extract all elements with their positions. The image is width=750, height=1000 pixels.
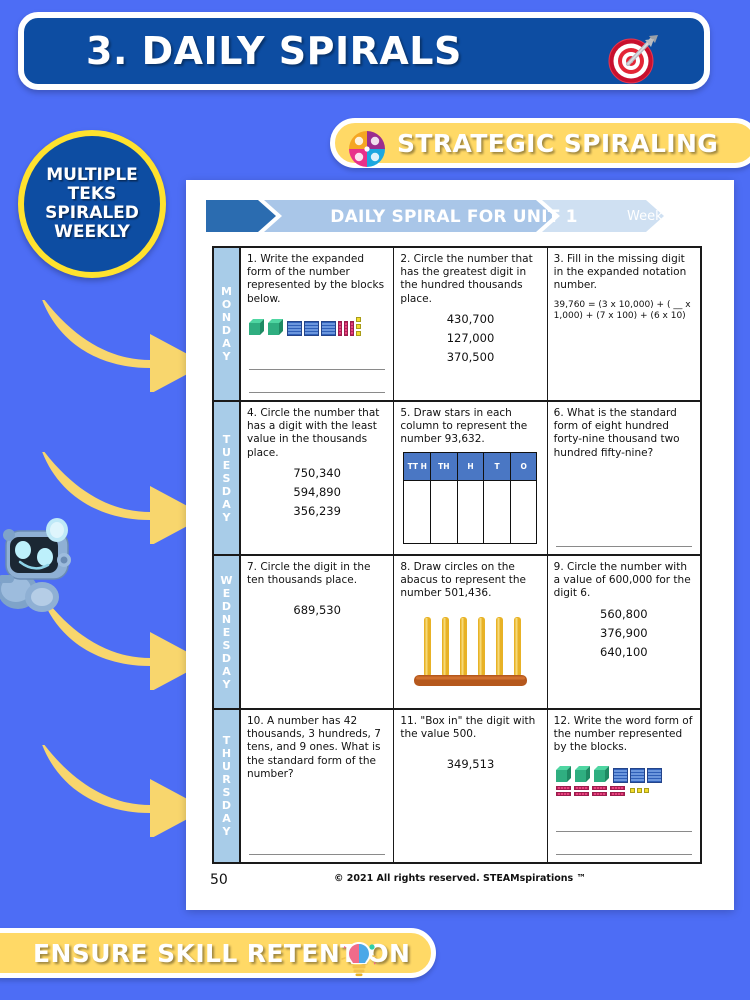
hundred-flat [647, 768, 662, 783]
pv-header: TH [431, 453, 457, 481]
one-unit [356, 317, 361, 322]
hundred-flat [613, 768, 628, 783]
ten-rod-pair [556, 786, 571, 796]
choice[interactable]: 560,800 [554, 605, 694, 624]
one-unit [644, 788, 649, 793]
question-text: 3. Fill in the missing digit in the expa… [554, 253, 694, 293]
day-letter: O [222, 298, 231, 311]
day-letter: A [222, 498, 231, 511]
day-letter: A [222, 665, 231, 678]
answer-choices[interactable]: 430,700 127,000 370,500 [400, 310, 540, 367]
choice[interactable]: 127,000 [400, 329, 540, 348]
answer-line[interactable] [249, 392, 385, 393]
base-ten-blocks-figure [247, 311, 387, 336]
question-cell-1[interactable]: 1. Write the expanded form of the number… [241, 248, 394, 400]
teks-line-1: MULTIPLE [46, 166, 138, 185]
question-text: 8. Draw circles on the abacus to represe… [400, 561, 540, 601]
day-letter: U [222, 446, 231, 459]
choice[interactable]: 370,500 [400, 348, 540, 367]
pv-header: H [458, 453, 484, 481]
day-letter: D [222, 799, 231, 812]
thousand-cube [268, 319, 285, 336]
page-title: 3. DAILY SPIRALS [86, 29, 462, 73]
expanded-notation[interactable]: 39,760 = (3 x 10,000) + ( __ x 1,000) + … [554, 300, 694, 323]
day-letter: N [222, 311, 231, 324]
day-letter: T [223, 734, 231, 747]
one-unit [356, 324, 361, 329]
ten-rod [610, 786, 625, 790]
lightbulb-brain-icon [339, 938, 379, 982]
ten-rod-pair [610, 786, 625, 796]
pv-header: TT H [404, 453, 430, 481]
question-value[interactable]: 689,530 [247, 603, 387, 617]
question-cell-2[interactable]: 2. Circle the number that has the greate… [394, 248, 547, 400]
blue-robot-mascot [0, 505, 88, 619]
one-units-group [356, 317, 361, 336]
pv-column-o[interactable]: O [511, 453, 537, 543]
day-letter: D [222, 600, 231, 613]
day-label-monday: MONDAY [214, 248, 241, 400]
choice[interactable]: 594,890 [247, 483, 387, 502]
day-letter: A [222, 337, 231, 350]
ten-rod [350, 321, 354, 336]
day-letter: D [222, 485, 231, 498]
answer-line[interactable] [556, 831, 692, 832]
question-cell-6[interactable]: 6. What is the standard form of eight hu… [548, 402, 700, 554]
question-text: 6. What is the standard form of eight hu… [554, 407, 694, 460]
question-cell-12[interactable]: 12. Write the word form of the number re… [548, 710, 700, 862]
answer-lines[interactable] [556, 524, 692, 547]
abacus-figure[interactable] [410, 609, 530, 693]
question-text: 10. A number has 42 thousands, 3 hundred… [247, 715, 387, 781]
question-text: 7. Circle the digit in the ten thousands… [247, 561, 387, 587]
day-letter: Y [223, 825, 231, 838]
day-label-thursday: THURSDAY [214, 710, 241, 862]
hundred-flat [304, 321, 319, 336]
strategic-spiraling-label: STRATEGIC SPIRALING [397, 129, 718, 158]
ten-rod [592, 792, 607, 796]
pv-cell[interactable] [484, 481, 510, 543]
ten-rod-pair [592, 786, 607, 796]
day-letter: M [221, 285, 232, 298]
answer-line[interactable] [556, 854, 692, 855]
banner-week: Week 1 [606, 207, 696, 227]
ten-rod [574, 786, 589, 790]
ensure-skill-retention-badge: ENSURE SKILL RETENTION [0, 928, 436, 978]
question-cell-7[interactable]: 7. Circle the digit in the ten thousands… [241, 556, 394, 708]
question-text: 5. Draw stars in each column to represen… [400, 407, 540, 447]
strategic-spiraling-badge: STRATEGIC SPIRALING [330, 118, 750, 168]
one-unit [637, 788, 642, 793]
question-cell-4[interactable]: 4. Circle the number that has a digit wi… [241, 402, 394, 554]
day-letter: T [223, 433, 231, 446]
choice[interactable]: 430,700 [400, 310, 540, 329]
day-letter: E [223, 626, 231, 639]
ten-rod [344, 321, 348, 336]
target-bullseye-icon [604, 30, 662, 92]
day-letter: W [220, 574, 232, 587]
answer-line[interactable] [249, 854, 385, 855]
question-text: 2. Circle the number that has the greate… [400, 253, 540, 306]
answer-choices[interactable]: 750,340 594,890 356,239 [247, 464, 387, 521]
answer-choices[interactable]: 560,800 376,900 640,100 [554, 605, 694, 662]
answer-line[interactable] [249, 369, 385, 370]
one-units-group [630, 788, 649, 793]
choice[interactable]: 356,239 [247, 502, 387, 521]
question-cell-3[interactable]: 3. Fill in the missing digit in the expa… [548, 248, 700, 400]
table-row: WEDNESDAY 7. Circle the digit in the ten… [214, 556, 700, 710]
answer-lines[interactable] [249, 832, 385, 855]
pv-column-t[interactable]: T [484, 453, 511, 543]
thousand-cube [556, 766, 573, 783]
day-letter: N [222, 613, 231, 626]
ten-rod [338, 321, 342, 336]
pv-column-th[interactable]: TH [431, 453, 458, 543]
pv-cell[interactable] [431, 481, 457, 543]
day-letter: S [223, 472, 231, 485]
ten-rod [592, 786, 607, 790]
day-letter: H [222, 747, 231, 760]
question-text: 11. "Box in" the digit with the value 50… [400, 715, 540, 741]
page-title-banner: 3. DAILY SPIRALS [18, 12, 710, 90]
hundred-flat [630, 768, 645, 783]
question-cell-11[interactable]: 11. "Box in" the digit with the value 50… [394, 710, 547, 862]
pv-header: T [484, 453, 510, 481]
choice[interactable]: 376,900 [554, 624, 694, 643]
question-text: 9. Circle the number with a value of 600… [554, 561, 694, 601]
day-letter: D [222, 652, 231, 665]
day-letter: S [223, 639, 231, 652]
table-row: TUESDAY 4. Circle the number that has a … [214, 402, 700, 556]
day-letter: D [222, 324, 231, 337]
day-label-tuesday: TUESDAY [214, 402, 241, 554]
question-cell-10[interactable]: 10. A number has 42 thousands, 3 hundred… [241, 710, 394, 862]
question-value[interactable]: 349,513 [400, 757, 540, 771]
pv-cell[interactable] [404, 481, 430, 543]
question-text: 4. Circle the number that has a digit wi… [247, 407, 387, 460]
copyright-notice: © 2021 All rights reserved. STEAMspirati… [186, 873, 734, 884]
yellow-curved-arrow-1 [38, 300, 210, 392]
ten-rod [556, 786, 571, 790]
four-quadrant-spiral-icon [347, 129, 387, 173]
day-letter: A [222, 812, 231, 825]
ten-rod [556, 792, 571, 796]
thousand-cube [249, 319, 266, 336]
question-cell-5[interactable]: 5. Draw stars in each column to represen… [394, 402, 547, 554]
day-letter: U [222, 760, 231, 773]
choice[interactable]: 750,340 [247, 464, 387, 483]
day-letter: E [223, 587, 231, 600]
yellow-curved-arrow-4 [38, 745, 210, 837]
ten-rod-pair [574, 786, 589, 796]
teks-line-4: WEEKLY [54, 223, 130, 242]
table-row: MONDAY 1. Write the expanded form of the… [214, 248, 700, 402]
daily-spiral-grid: MONDAY 1. Write the expanded form of the… [212, 246, 702, 864]
thousand-cube [594, 766, 611, 783]
pv-column-tth[interactable]: TT H [404, 453, 431, 543]
one-unit [356, 331, 361, 336]
day-letter: Y [223, 350, 231, 363]
question-cell-8[interactable]: 8. Draw circles on the abacus to represe… [394, 556, 547, 708]
hundred-flat [321, 321, 336, 336]
choice[interactable]: 640,100 [554, 643, 694, 662]
one-unit [630, 788, 635, 793]
question-text: 12. Write the word form of the number re… [554, 715, 694, 755]
ten-rod [610, 792, 625, 796]
ten-rod [574, 792, 589, 796]
place-value-table[interactable]: TT H TH H T [403, 452, 537, 544]
base-ten-blocks-figure [554, 760, 694, 796]
teks-line-2: TEKS [68, 185, 117, 204]
thousand-cube [575, 766, 592, 783]
answer-lines[interactable] [556, 809, 692, 855]
teks-line-3: SPIRALED [45, 204, 139, 223]
pv-cell[interactable] [511, 481, 537, 543]
day-letter: Y [223, 511, 231, 524]
pv-column-h[interactable]: H [458, 453, 485, 543]
day-label-wednesday: WEDNESDAY [214, 556, 241, 708]
day-letter: E [223, 459, 231, 472]
pv-cell[interactable] [458, 481, 484, 543]
day-letter: S [223, 786, 231, 799]
worksheet-page: DAILY SPIRAL FOR UNIT 1 Week 1 MONDAY 1.… [186, 180, 734, 910]
question-text: 1. Write the expanded form of the number… [247, 253, 387, 306]
answer-line[interactable] [556, 546, 692, 547]
day-letter: Y [223, 678, 231, 691]
table-row: THURSDAY 10. A number has 42 thousands, … [214, 710, 700, 862]
pv-header: O [511, 453, 537, 481]
answer-lines[interactable] [249, 347, 385, 393]
multiple-teks-badge: MULTIPLE TEKS SPIRALED WEEKLY [18, 130, 166, 278]
day-letter: R [222, 773, 230, 786]
question-cell-9[interactable]: 9. Circle the number with a value of 600… [548, 556, 700, 708]
banner-title: DAILY SPIRAL FOR UNIT 1 [304, 206, 604, 228]
hundred-flat [287, 321, 302, 336]
